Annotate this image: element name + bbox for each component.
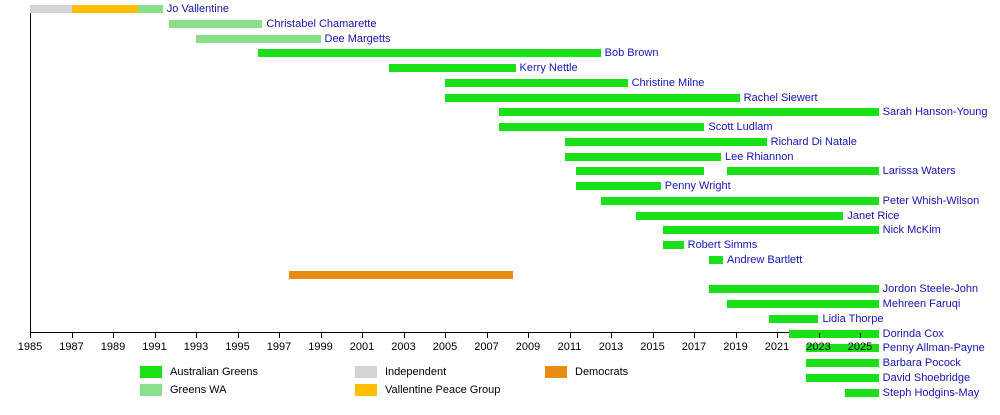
timeline-bar-segment[interactable] <box>389 64 516 72</box>
x-tick-label: 2003 <box>384 340 424 354</box>
timeline-bar-segment[interactable] <box>636 212 844 220</box>
legend-swatch <box>355 366 377 378</box>
legend-swatch <box>140 384 162 396</box>
x-tick-label: 1995 <box>218 340 258 354</box>
timeline-bar-segment[interactable] <box>138 5 163 13</box>
x-tick <box>819 333 820 338</box>
timeline-bar-segment[interactable] <box>445 79 628 87</box>
timeline-bar-segment[interactable] <box>72 5 138 13</box>
timeline-row-label: Larissa Waters <box>883 164 956 178</box>
timeline-row-label: Richard Di Natale <box>771 135 857 149</box>
x-tick-label: 1991 <box>135 340 175 354</box>
x-tick <box>362 333 363 338</box>
timeline-row-label: Mehreen Faruqi <box>883 297 961 311</box>
timeline-row[interactable]: Lidia Thorpe <box>0 312 1000 326</box>
timeline-row-label: Nick McKim <box>883 223 941 237</box>
legend-swatch <box>140 366 162 378</box>
x-tick-label: 2007 <box>467 340 507 354</box>
timeline-row[interactable]: Christine Milne <box>0 76 1000 90</box>
timeline-bar-segment[interactable] <box>565 138 766 146</box>
timeline-bar-segment[interactable] <box>663 226 879 234</box>
x-tick <box>196 333 197 338</box>
x-tick <box>113 333 114 338</box>
timeline-bar-segment[interactable] <box>769 315 819 323</box>
timeline-row[interactable]: Scott Ludlam <box>0 120 1000 134</box>
timeline-bar-segment[interactable] <box>789 330 878 338</box>
x-tick <box>238 333 239 338</box>
x-tick <box>528 333 529 338</box>
x-tick <box>860 333 861 338</box>
legend-label: Vallentine Peace Group <box>385 382 500 398</box>
timeline-bar-segment[interactable] <box>169 20 262 28</box>
legend-label: Greens WA <box>170 382 226 398</box>
timeline-row-label: Jo Vallentine <box>167 2 229 16</box>
timeline-bar-segment[interactable] <box>601 197 879 205</box>
x-tick <box>445 333 446 338</box>
timeline-row-label: Penny Wright <box>665 179 731 193</box>
legend-swatch <box>545 366 567 378</box>
timeline-row[interactable]: Nick McKim <box>0 223 1000 237</box>
timeline-row-label: Lee Rhiannon <box>725 150 794 164</box>
timeline-row[interactable] <box>0 268 1000 282</box>
x-tick <box>694 333 695 338</box>
x-tick-label: 2011 <box>550 340 590 354</box>
timeline-row-label: Andrew Bartlett <box>727 253 802 267</box>
timeline-row[interactable]: Kerry Nettle <box>0 61 1000 75</box>
timeline-bar-segment[interactable] <box>727 300 878 308</box>
timeline-row[interactable]: Janet Rice <box>0 209 1000 223</box>
x-tick-label: 1999 <box>301 340 341 354</box>
timeline-bar-segment[interactable] <box>289 271 513 279</box>
timeline-row-label: Robert Simms <box>688 238 758 252</box>
timeline-row-label: Peter Whish-Wilson <box>883 194 980 208</box>
legend-label: Democrats <box>575 364 628 380</box>
x-tick <box>487 333 488 338</box>
timeline-bar-segment[interactable] <box>709 256 724 264</box>
timeline-row[interactable]: Bob Brown <box>0 46 1000 60</box>
timeline-row-label: Dorinda Cox <box>883 327 944 341</box>
x-tick <box>653 333 654 338</box>
x-tick <box>404 333 405 338</box>
timeline-bar-segment[interactable] <box>30 5 72 13</box>
x-tick <box>321 333 322 338</box>
x-tick-label: 2001 <box>342 340 382 354</box>
timeline-row[interactable]: Jo Vallentine <box>0 2 1000 16</box>
legend-label: Australian Greens <box>170 364 258 380</box>
timeline-row-label: Penny Allman-Payne <box>883 341 985 355</box>
x-tick <box>736 333 737 338</box>
timeline-row-label: Dee Margetts <box>325 32 391 46</box>
x-tick <box>279 333 280 338</box>
x-tick-label: 1993 <box>176 340 216 354</box>
timeline-row[interactable]: Peter Whish-Wilson <box>0 194 1000 208</box>
timeline-row-label: Lidia Thorpe <box>823 312 884 326</box>
timeline-row-label: Janet Rice <box>847 209 899 223</box>
x-tick <box>72 333 73 338</box>
timeline-row[interactable]: Robert Simms <box>0 238 1000 252</box>
x-tick <box>30 333 31 338</box>
timeline-bar-segment[interactable] <box>663 241 684 249</box>
timeline-row[interactable]: Sarah Hanson-Young <box>0 105 1000 119</box>
timeline-bar-segment[interactable] <box>576 167 705 175</box>
timeline-bar-segment[interactable] <box>565 153 721 161</box>
x-tick-label: 1987 <box>52 340 92 354</box>
x-tick-label: 2023 <box>799 340 839 354</box>
timeline-row[interactable]: Larissa Waters <box>0 164 1000 178</box>
timeline-bar-segment[interactable] <box>709 285 879 293</box>
x-tick-label: 1985 <box>10 340 50 354</box>
timeline-row[interactable]: Rachel Siewert <box>0 91 1000 105</box>
timeline-row[interactable]: Dee Margetts <box>0 32 1000 46</box>
chart-legend: Australian GreensGreens WAIndependentVal… <box>0 362 1000 412</box>
timeline-row[interactable]: Jordon Steele-John <box>0 282 1000 296</box>
x-tick <box>777 333 778 338</box>
timeline-row-label: Bob Brown <box>605 46 659 60</box>
timeline-bar-segment[interactable] <box>727 167 878 175</box>
timeline-bar-segment[interactable] <box>258 49 600 57</box>
legend-label: Independent <box>385 364 446 380</box>
plot-area: Jo VallentineChristabel ChamaretteDee Ma… <box>0 0 1000 333</box>
timeline-row-label: Christine Milne <box>632 76 705 90</box>
timeline-bar-segment[interactable] <box>499 108 879 116</box>
x-tick-label: 1997 <box>259 340 299 354</box>
x-tick <box>611 333 612 338</box>
x-tick-label: 2005 <box>425 340 465 354</box>
timeline-row[interactable]: Mehreen Faruqi <box>0 297 1000 311</box>
x-tick-label: 2019 <box>716 340 756 354</box>
timeline-row[interactable]: Christabel Chamarette <box>0 17 1000 31</box>
x-tick-label: 2021 <box>757 340 797 354</box>
timeline-row-label: Sarah Hanson-Young <box>883 105 988 119</box>
x-tick-label: 2009 <box>508 340 548 354</box>
timeline-row[interactable]: Dorinda Cox <box>0 327 1000 341</box>
timeline-bar-segment[interactable] <box>445 94 740 102</box>
timeline-bar-segment[interactable] <box>196 35 321 43</box>
x-tick <box>155 333 156 338</box>
timeline-row[interactable]: Penny Wright <box>0 179 1000 193</box>
timeline-row-label: Kerry Nettle <box>520 61 578 75</box>
x-tick-label: 2013 <box>591 340 631 354</box>
timeline-row[interactable]: Andrew Bartlett <box>0 253 1000 267</box>
x-tick-label: 1989 <box>93 340 133 354</box>
timeline-row-label: Rachel Siewert <box>744 91 818 105</box>
timeline-row[interactable]: Richard Di Natale <box>0 135 1000 149</box>
x-tick <box>570 333 571 338</box>
timeline-row[interactable]: Lee Rhiannon <box>0 150 1000 164</box>
timeline-row-label: Jordon Steele-John <box>883 282 978 296</box>
timeline-chart: Jo VallentineChristabel ChamaretteDee Ma… <box>0 0 1000 415</box>
timeline-bar-segment[interactable] <box>576 182 661 190</box>
timeline-row-label: Scott Ludlam <box>708 120 772 134</box>
timeline-bar-segment[interactable] <box>499 123 704 131</box>
x-tick-label: 2025 <box>840 340 880 354</box>
timeline-row-label: Christabel Chamarette <box>266 17 376 31</box>
x-tick-label: 2015 <box>633 340 673 354</box>
legend-swatch <box>355 384 377 396</box>
x-tick-label: 2017 <box>674 340 714 354</box>
